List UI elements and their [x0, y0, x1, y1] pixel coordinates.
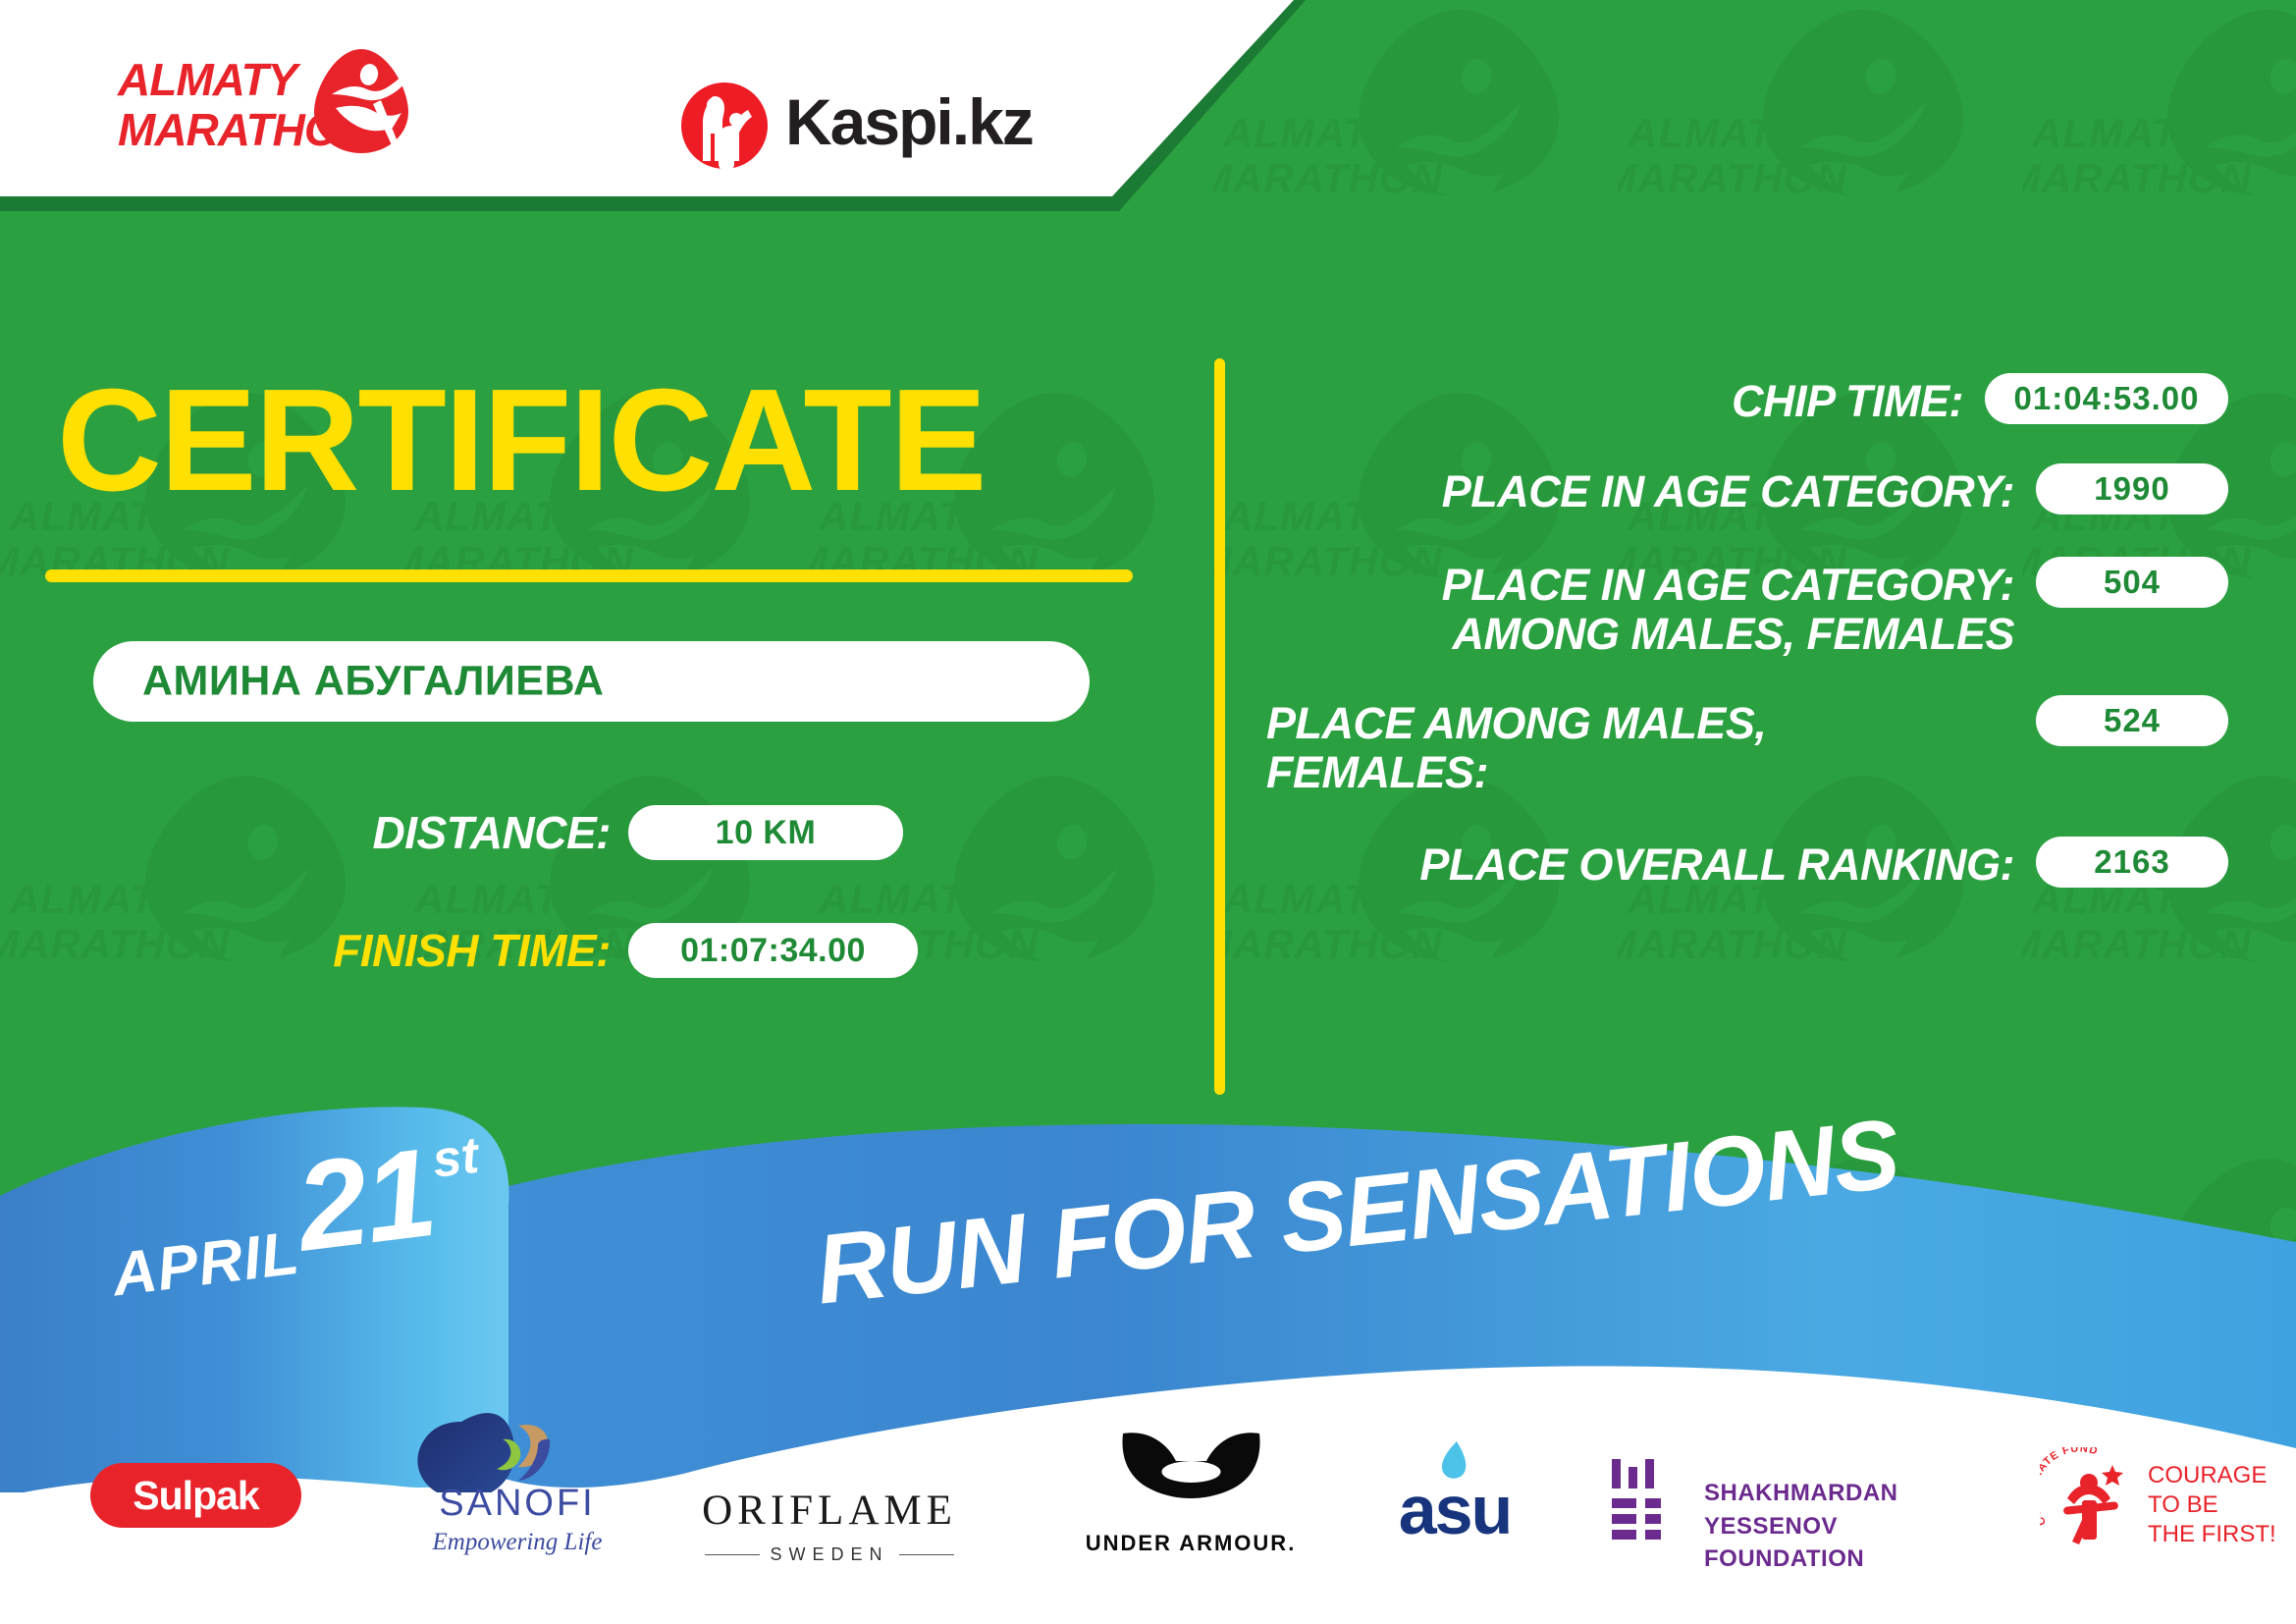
stat-row-place-age-category-among: PLACE IN AGE CATEGORY:AMONG MALES, FEMAL… — [1266, 557, 2228, 660]
almaty-marathon-droplet-runner-icon — [312, 47, 410, 155]
stat-row-chip-time: CHIP TIME: 01:04:53.00 — [1266, 373, 2228, 426]
page-title: CERTIFICATE — [57, 368, 1147, 514]
sponsor-logo-sanofi: SANOFI Empowering Life — [404, 1422, 630, 1579]
participant-name-field: АМИНА АБУГАЛИЕВА — [93, 641, 1090, 722]
stat-value-place-age-category: 1990 — [2094, 470, 2169, 508]
distance-pill: 10 KM — [628, 805, 903, 860]
yessenov-foundation-line2: FOUNDATION — [1704, 1543, 1983, 1576]
distance-value: 10 KM — [716, 814, 817, 852]
kaspi-logo-text: Kaspi.kz — [785, 84, 1033, 159]
oriflame-rule-right — [899, 1554, 954, 1555]
kaspi-logo: Kaspi.kz — [679, 77, 1072, 185]
finish-time-label: FINISH TIME: — [333, 924, 611, 977]
under-armour-icon — [1115, 1428, 1267, 1522]
sponsor-logo-courage-to-be-the-first: CORPORATE FUND COURAGE TO BE THE FIRST! — [2040, 1422, 2285, 1579]
title-underline — [45, 569, 1133, 582]
sulpak-text: Sulpak — [133, 1473, 258, 1519]
stat-pill-place-age-category: 1990 — [2036, 463, 2228, 514]
sponsor-logo-asu: asu — [1366, 1422, 1543, 1579]
asu-text: asu — [1366, 1471, 1543, 1549]
sponsor-logo-sulpak: Sulpak — [90, 1422, 301, 1579]
sponsors-strip: Sulpak SANOFI Empowering Life ORIFLAME S… — [0, 1422, 2296, 1598]
oriflame-tagline: SWEDEN — [770, 1544, 888, 1565]
asu-droplet-icon — [1437, 1439, 1470, 1481]
vertical-divider — [1214, 358, 1225, 1095]
ribbon-day-suffix: st — [430, 1127, 482, 1189]
stat-label-place-age-category: PLACE IN AGE CATEGORY: — [1266, 463, 2036, 516]
stat-pill-place-overall-ranking: 2163 — [2036, 837, 2228, 888]
kaspi-people-circle-icon — [679, 81, 770, 171]
stat-value-place-overall-ranking: 2163 — [2094, 843, 2169, 881]
sanofi-tagline: Empowering Life — [404, 1529, 630, 1556]
sanofi-mark-icon — [489, 1424, 552, 1485]
stat-value-chip-time: 01:04:53.00 — [2014, 380, 2200, 417]
stat-value-place-among-males-females: 524 — [2104, 702, 2161, 739]
yessenov-foundation-text: SHAKHMARDAN YESSENOV FOUNDATION — [1704, 1477, 1983, 1576]
stat-label-place-overall-ranking: PLACE OVERALL RANKING: — [1266, 837, 2036, 890]
ctbf-line3: THE FIRST! — [2148, 1520, 2276, 1549]
courage-to-be-the-first-icon: CORPORATE FUND — [2040, 1447, 2142, 1549]
oriflame-tagline-row: SWEDEN — [687, 1544, 972, 1565]
yessenov-foundation-line1: SHAKHMARDAN YESSENOV — [1704, 1477, 1983, 1543]
ctbf-line2: TO BE — [2148, 1490, 2276, 1520]
oriflame-text: ORIFLAME — [687, 1487, 972, 1535]
stat-row-place-among-males-females: PLACE AMONG MALES,FEMALES: 524 — [1266, 695, 2228, 798]
stat-label-place-age-category-among: PLACE IN AGE CATEGORY:AMONG MALES, FEMAL… — [1266, 557, 2036, 660]
stat-pill-place-age-category-among: 504 — [2036, 557, 2228, 608]
courage-to-be-the-first-text: COURAGE TO BE THE FIRST! — [2148, 1461, 2276, 1549]
ctbf-line1: COURAGE — [2148, 1461, 2276, 1490]
stat-label-place-among-males-females: PLACE AMONG MALES,FEMALES: — [1266, 695, 2036, 798]
almaty-marathon-logo: ALMATY MARATHON — [118, 47, 442, 160]
stat-pill-chip-time: 01:04:53.00 — [1985, 373, 2228, 424]
stat-label-chip-time: CHIP TIME: — [1266, 373, 1985, 426]
participant-name-value: АМИНА АБУГАЛИЕВА — [142, 658, 604, 706]
yessenov-foundation-icon — [1610, 1459, 1682, 1543]
oriflame-rule-left — [705, 1554, 760, 1555]
distance-label: DISTANCE: — [372, 806, 611, 859]
finish-time-value: 01:07:34.00 — [680, 932, 866, 970]
under-armour-text: UNDER ARMOUR. — [1078, 1531, 1304, 1556]
sponsor-logo-oriflame: ORIFLAME SWEDEN — [687, 1422, 972, 1579]
finish-time-pill: 01:07:34.00 — [628, 923, 918, 978]
sanofi-text: SANOFI — [404, 1483, 630, 1525]
sponsor-logo-shakhmardan-yessenov-foundation: SHAKHMARDAN YESSENOV FOUNDATION — [1610, 1422, 1983, 1579]
ribbon-day: 21 — [290, 1122, 442, 1278]
certificate-page: ALMATY MARATHON ALMATY MARATHON — [0, 0, 2296, 1624]
stat-row-place-overall-ranking: PLACE OVERALL RANKING: 2163 — [1266, 837, 2228, 890]
stat-row-place-age-category: PLACE IN AGE CATEGORY: 1990 — [1266, 463, 2228, 516]
sulpak-badge: Sulpak — [90, 1463, 301, 1528]
stats-list: CHIP TIME: 01:04:53.00 PLACE IN AGE CATE… — [1266, 373, 2228, 902]
sponsor-logo-under-armour: UNDER ARMOUR. — [1078, 1422, 1304, 1579]
stat-pill-place-among-males-females: 524 — [2036, 695, 2228, 746]
stat-value-place-age-category-among: 504 — [2104, 564, 2161, 601]
